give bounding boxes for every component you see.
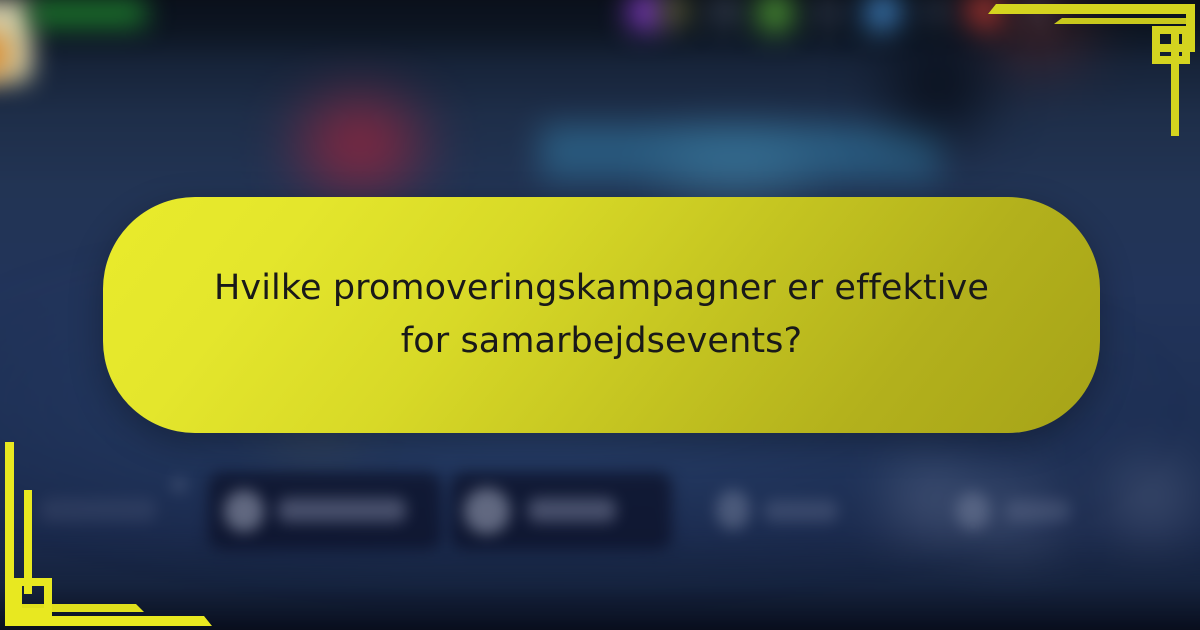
toolbar-item-2-icon: [464, 488, 510, 534]
toolbar-item-4-icon: [956, 492, 990, 530]
toolbar-item-5-icon: [172, 478, 186, 492]
blob-avatar-dark: [888, 38, 988, 138]
toolbar-item-4-label: [1006, 500, 1070, 522]
toolbar-item-5-label: [40, 498, 156, 522]
blob-green-pill: [30, 0, 146, 26]
toolbar-item-1-label: [278, 498, 406, 522]
screenshot-canvas: Hvilke promoveringskampagner er effektiv…: [0, 0, 1200, 630]
question-card[interactable]: Hvilke promoveringskampagner er effektiv…: [103, 197, 1100, 433]
toolbar-item-1-icon: [224, 490, 264, 532]
blob-highlight-5: [1110, 466, 1190, 532]
toolbar-item-3-label: [764, 500, 838, 522]
blob-slate-3: [924, 0, 948, 24]
toolbar-item-3-icon: [716, 490, 750, 530]
question-text: Hvilke promoveringskampagner er effektiv…: [207, 262, 997, 368]
blob-slate-2: [816, 0, 840, 24]
toolbar-item-2-label: [528, 498, 616, 522]
blob-crimson: [300, 100, 420, 190]
